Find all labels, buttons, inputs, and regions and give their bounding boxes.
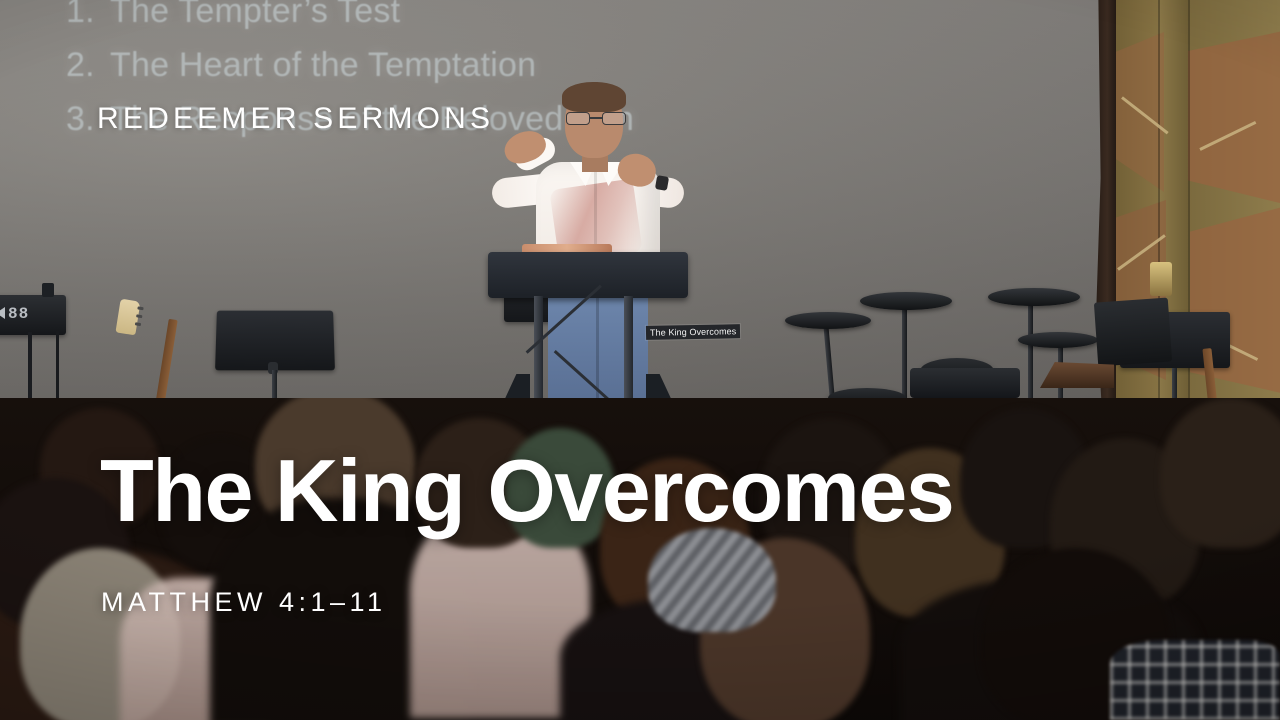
- sermon-scripture-reference: MATTHEW 4:1–11: [101, 589, 387, 616]
- wall-diamond-inlay: [1188, 30, 1280, 205]
- cymbal: [988, 288, 1080, 306]
- sermon-title: The King Overcomes: [100, 447, 953, 535]
- keyboard-clip: [42, 283, 54, 297]
- lectern-cross-brace: [540, 322, 626, 410]
- series-brand-label: REDEEMER SERMONS: [97, 104, 494, 134]
- drum-module: [910, 368, 1020, 398]
- tuning-peg: [136, 314, 142, 318]
- slide-point-number: 1.: [66, 0, 92, 38]
- keyboard-model-label: 88: [8, 305, 29, 323]
- microphone: [1150, 262, 1172, 296]
- slide-point-number: 3.: [66, 92, 92, 146]
- stage-keyboard: 88: [0, 295, 66, 335]
- tuning-peg: [137, 306, 143, 310]
- hi-hat-cymbal: [1018, 332, 1098, 348]
- slide-point-number: 2.: [66, 38, 92, 92]
- eyeglass-lens-left: [566, 112, 590, 125]
- stage-monitor-screen: [1094, 297, 1172, 366]
- preacher-wristwatch: [655, 175, 669, 191]
- cymbal: [785, 312, 871, 329]
- preacher-hair: [562, 82, 626, 112]
- audience-member-plaid-shirt: [1110, 640, 1280, 720]
- audience-member-beanie: [648, 528, 776, 632]
- confidence-monitor-label: The King Overcomes: [646, 324, 741, 340]
- slide-point-label: The Tempter’s Test: [110, 0, 400, 38]
- keyboard-arrow-icon: [0, 307, 5, 319]
- sermon-video-frame: 1. The Tempter’s Test 2. The Heart of th…: [0, 0, 1280, 720]
- eyeglass-bridge: [590, 117, 602, 119]
- tuning-peg: [135, 322, 141, 326]
- eyeglasses-icon: [566, 112, 626, 125]
- slide-point-1: 1. The Tempter’s Test: [66, 0, 826, 38]
- cymbal: [860, 292, 952, 310]
- lectern-top: [488, 252, 688, 298]
- eyeglass-lens-right: [602, 112, 626, 125]
